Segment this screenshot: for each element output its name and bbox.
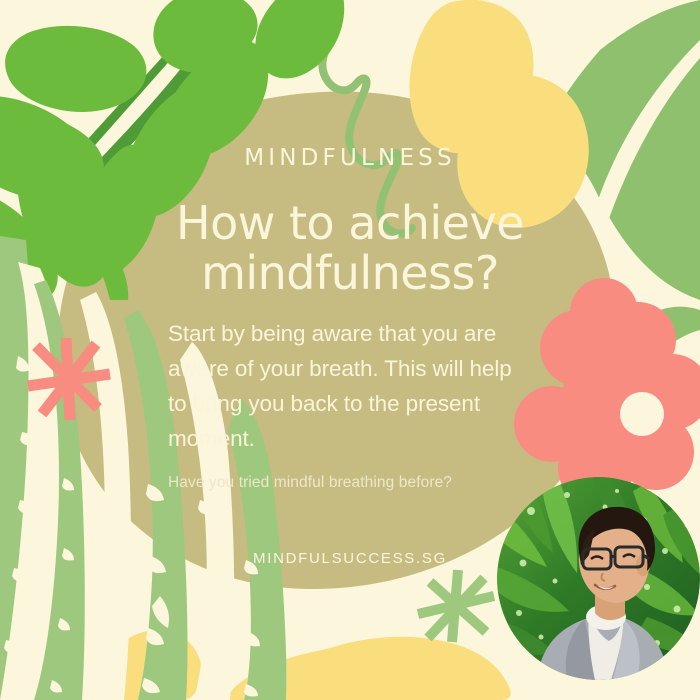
body-paragraph: Start by being aware that you are aware … [168,316,528,456]
engagement-question: Have you tried mindful breathing before? [168,474,452,492]
headline-line-1: How to achieve [176,196,524,250]
headline-line-2: mindfulness? [0,248,700,298]
avatar-photo [497,477,700,680]
eyebrow-label: MINDFULNESS [0,145,700,171]
poster-canvas: MINDFULNESS How to achieve mindfulness? … [0,0,700,700]
page-title: How to achieve mindfulness? [0,198,700,298]
poster-content: MINDFULNESS How to achieve mindfulness? … [0,0,700,700]
avatar [497,477,700,680]
